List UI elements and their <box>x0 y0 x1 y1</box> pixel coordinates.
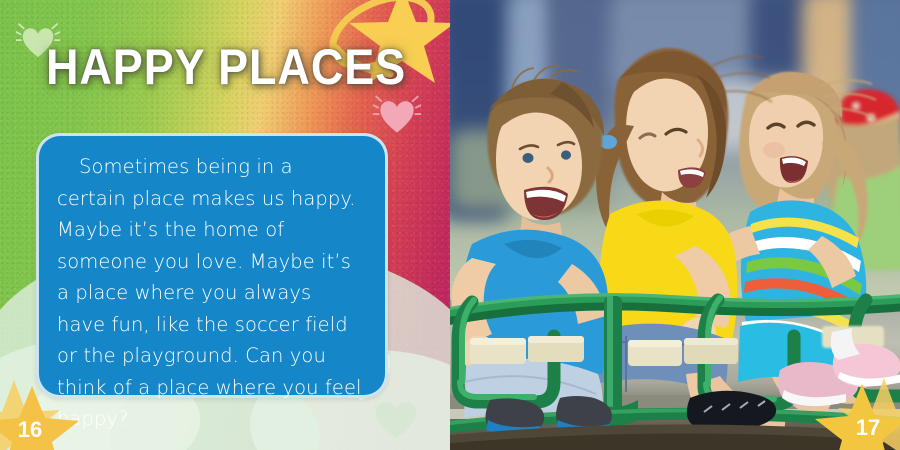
speech-bubble: Sometimes being in a certain place makes… <box>36 133 388 398</box>
heart-watermark-icon <box>374 400 418 440</box>
page-title: HAPPY PLACES <box>46 38 406 96</box>
page-number-badge-16: 16 <box>0 376 88 450</box>
book-spread: HAPPY PLACES Sometimes being in a certai… <box>0 0 900 450</box>
playground-photo: 17 <box>450 0 900 450</box>
body-text: Sometimes being in a certain place makes… <box>39 136 385 395</box>
left-page: HAPPY PLACES Sometimes being in a certai… <box>0 0 450 450</box>
page-number-badge-17: 17 <box>810 374 900 450</box>
page-number-text: 16 <box>0 410 60 450</box>
child-1-blue-shirt <box>451 66 608 430</box>
right-page: 17 <box>450 0 900 450</box>
page-number-text: 17 <box>840 408 896 448</box>
